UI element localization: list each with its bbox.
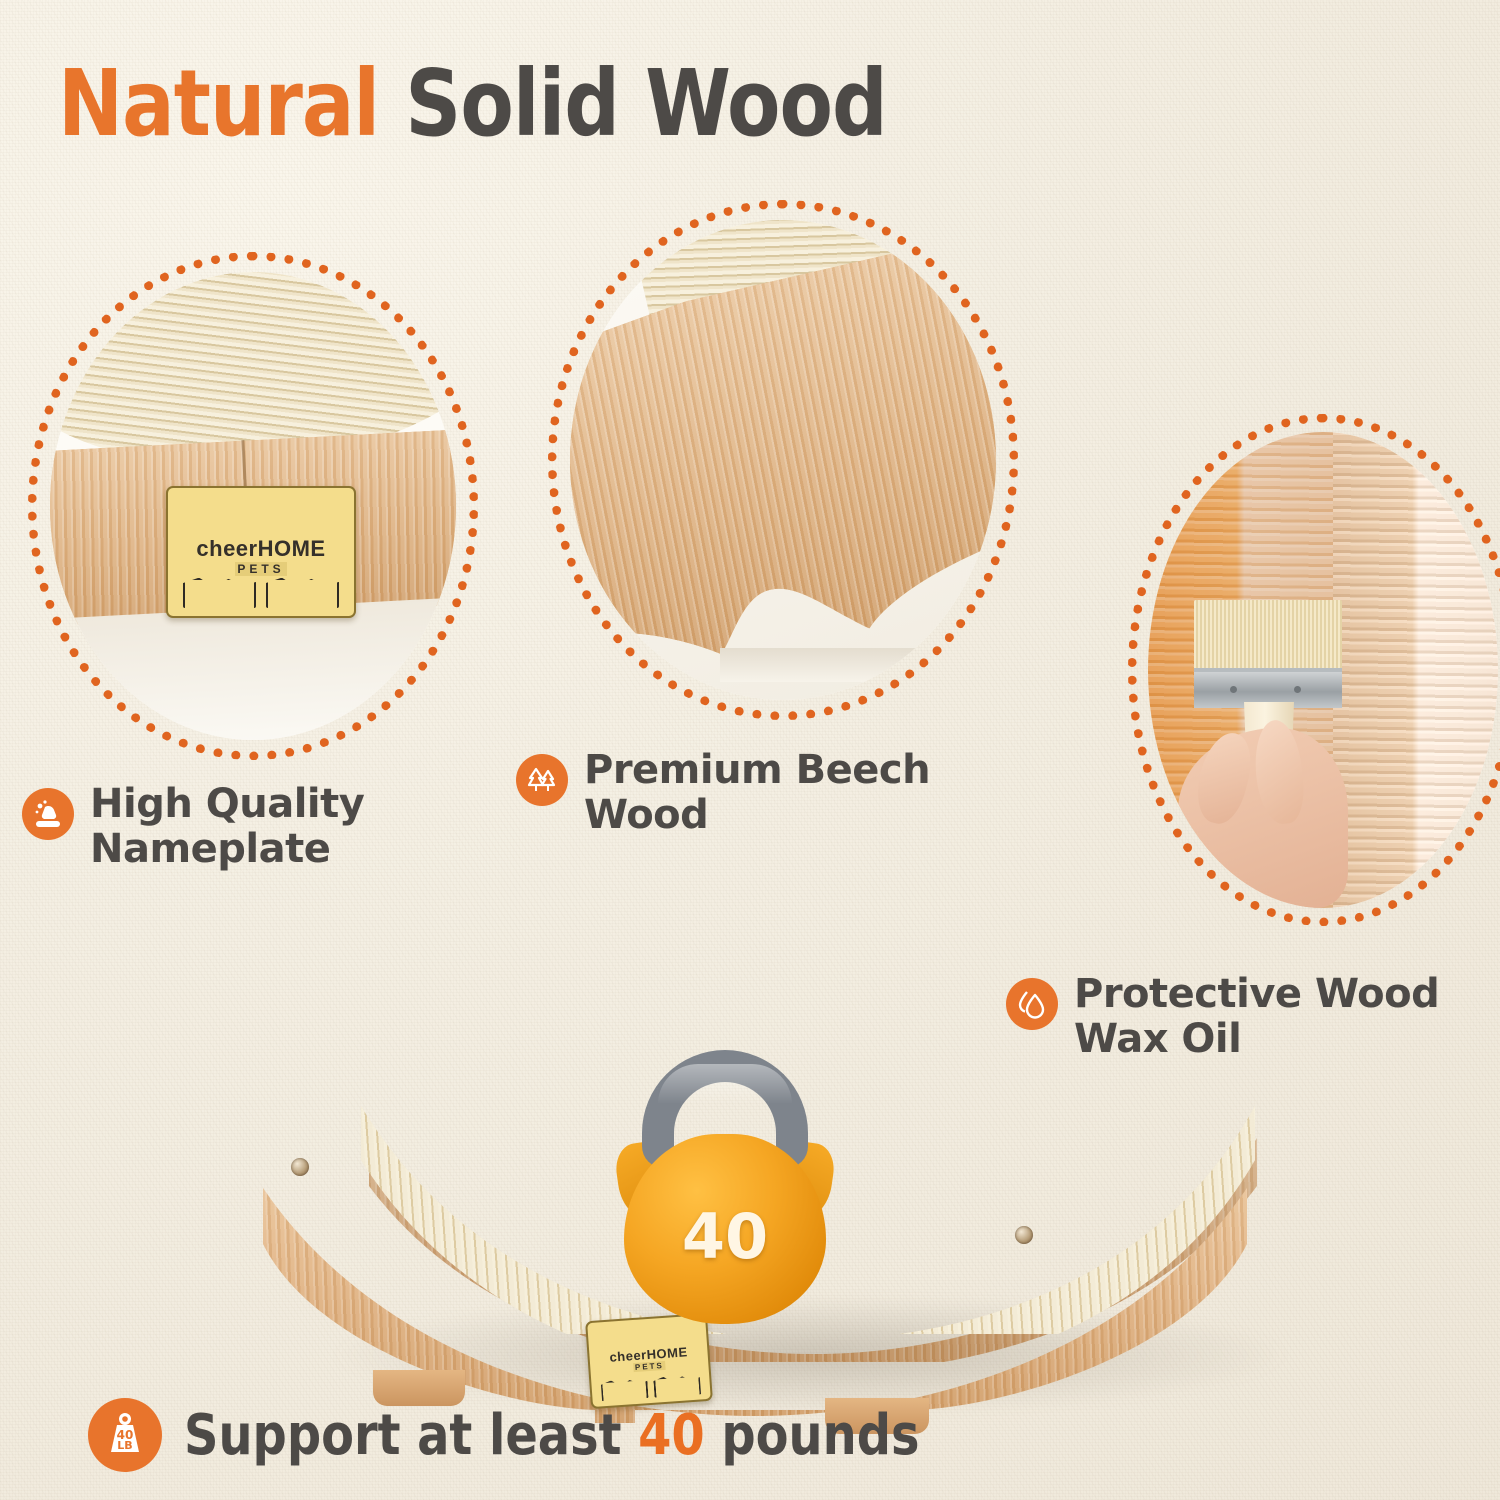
feature-label-text-beech: Premium Beech Wood — [584, 748, 930, 838]
weight-40lb-icon: 40 LB — [88, 1398, 162, 1472]
feature-circle-nameplate: cheerHOME PETS — [28, 252, 478, 760]
pine-trees-icon — [516, 754, 568, 806]
feature-line-1: Premium Beech — [584, 748, 930, 793]
feature-line-1: Protective Wood — [1074, 972, 1439, 1017]
kettlebell-weight: 40 — [610, 1050, 840, 1325]
nameplate-brand-text: cheerHOME — [196, 536, 325, 562]
support-number: 40 — [638, 1403, 705, 1468]
infographic-page: Natural Solid Wood cheerHOME PETS — [0, 0, 1500, 1500]
feature-label-beech: Premium Beech Wood — [516, 748, 930, 838]
product-nameplate-badge-2: cheerHOME PETS — [585, 1313, 713, 1409]
cat-ear-right-icon — [266, 578, 339, 609]
nameplate-cat-ears — [183, 578, 339, 609]
support-capacity-text: Support at least 40 pounds — [184, 1403, 919, 1468]
support-text-before: Support at least — [184, 1403, 638, 1468]
nameplate-sub-text: PETS — [633, 1361, 666, 1372]
wood-surface-untreated — [1333, 432, 1498, 908]
brush-ferrule-rivet-right-icon — [1294, 686, 1301, 693]
product-hero-image: cheerHOME PETS 40 — [255, 1040, 1365, 1430]
support-text-after: pounds — [705, 1403, 920, 1468]
feature-line-2: Nameplate — [90, 827, 364, 872]
photo-waxoil-brush — [1148, 432, 1498, 908]
kettlebell-weight-label: 40 — [624, 1200, 826, 1273]
title-orange-part: Natural — [58, 50, 405, 157]
feature-line-2: Wood — [584, 793, 930, 838]
feature-circle-beech — [548, 200, 1018, 720]
brush-ferrule-rivet-left-icon — [1230, 686, 1237, 693]
paint-brush-bristles-icon — [1194, 600, 1342, 668]
screw-left-icon — [291, 1158, 309, 1176]
svg-text:LB: LB — [117, 1439, 132, 1452]
quality-stamp-icon — [22, 788, 74, 840]
product-nameplate-badge-1: cheerHOME PETS — [166, 486, 356, 618]
feature-circle-waxoil — [1128, 414, 1500, 926]
feature-line-1: High Quality — [90, 782, 364, 827]
photo-nameplate-closeup: cheerHOME PETS — [50, 272, 456, 740]
cat-ear-right-icon — [653, 1374, 701, 1397]
page-title: Natural Solid Wood — [58, 58, 887, 150]
oil-drops-icon — [1006, 978, 1058, 1030]
screw-right-icon — [1015, 1226, 1033, 1244]
photo-floor-shadow-2 — [720, 648, 980, 682]
feature-label-nameplate: High Quality Nameplate — [22, 782, 364, 872]
kettlebell-handle-highlight — [658, 1064, 792, 1104]
cat-ear-left-icon — [183, 578, 256, 609]
photo-beech-closeup — [570, 220, 996, 700]
nameplate-sub-text: PETS — [235, 562, 286, 576]
feature-label-text-nameplate: High Quality Nameplate — [90, 782, 364, 872]
title-dark-part: Solid Wood — [405, 50, 887, 157]
support-capacity-caption: 40 LB Support at least 40 pounds — [88, 1398, 958, 1472]
